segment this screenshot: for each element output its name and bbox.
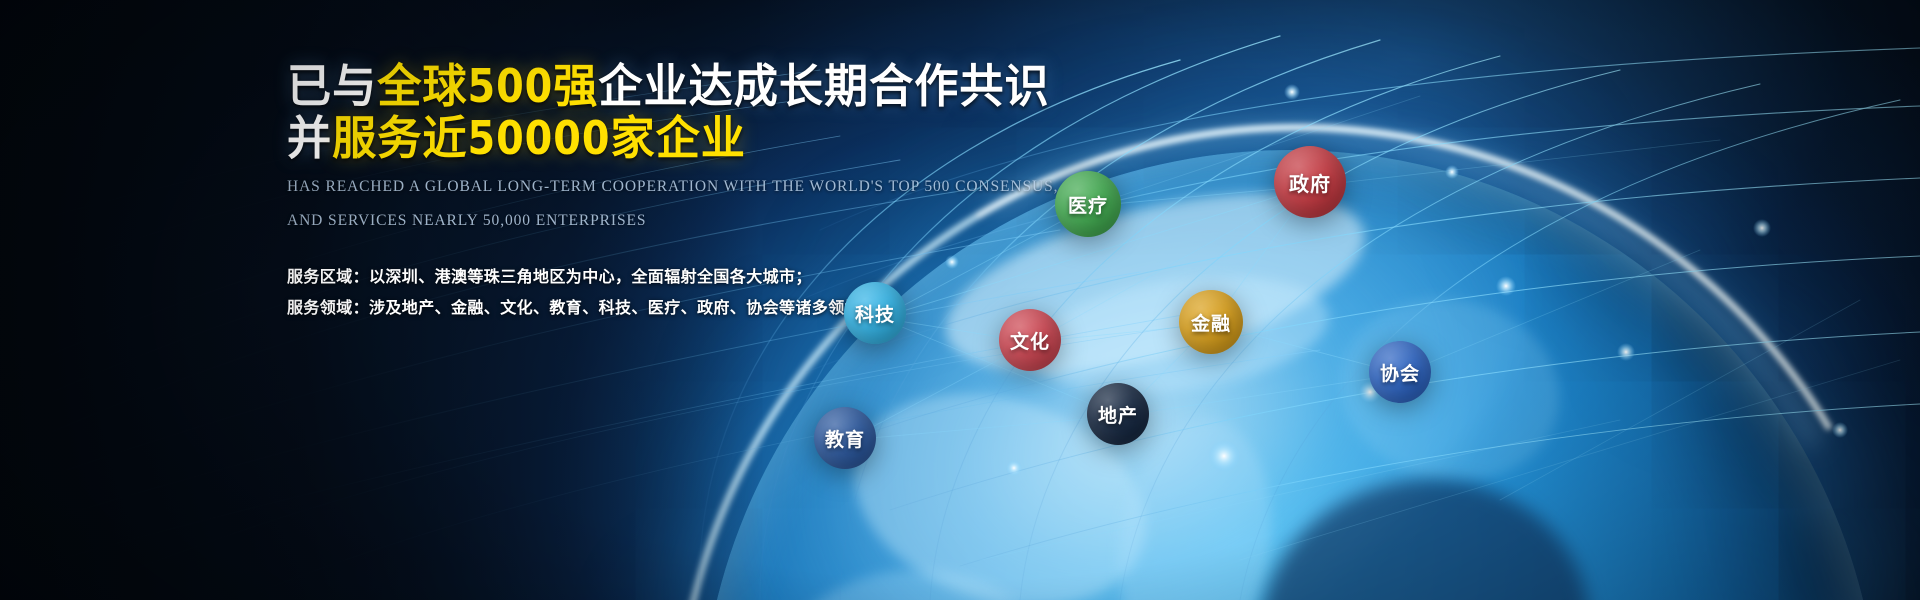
bubble-education[interactable]: 教育 — [814, 407, 876, 469]
bubble-technology[interactable]: 科技 — [844, 282, 906, 344]
bubble-healthcare[interactable]: 医疗 — [1055, 171, 1121, 237]
bubble-label: 医疗 — [1068, 191, 1108, 218]
subtitle-english-line-2: AND SERVICES NEARLY 50,000 ENTERPRISES — [287, 211, 1047, 231]
bubble-label: 政府 — [1289, 168, 1331, 197]
subtitle-english-line-1: HAS REACHED A GLOBAL LONG-TERM COOPERATI… — [287, 177, 1047, 197]
bubble-government[interactable]: 政府 — [1274, 146, 1346, 218]
bubble-label: 科技 — [855, 300, 895, 327]
service-area-text: 服务区域：以深圳、港澳等珠三角地区为中心，全面辐射全国各大城市； — [287, 261, 1047, 292]
headline-line-1: 已与全球500强企业达成长期合作共识 — [287, 61, 1017, 111]
headline-1-part-1: 已与 — [287, 59, 377, 113]
bubble-label: 教育 — [825, 425, 865, 452]
bubble-label: 文化 — [1010, 327, 1050, 354]
service-field-text: 服务领域：涉及地产、金融、文化、教育、科技、医疗、政府、协会等诸多领域。 — [287, 292, 1047, 323]
bubble-label: 金融 — [1191, 309, 1231, 336]
bubble-label: 协会 — [1380, 359, 1420, 386]
copy-block: 已与全球500强企业达成长期合作共识 并服务近50000家企业 HAS REAC… — [287, 55, 1047, 323]
bubble-culture[interactable]: 文化 — [999, 309, 1061, 371]
headline-2-highlight: 服务近50000家企业 — [332, 111, 746, 165]
banner-stage: 已与全球500强企业达成长期合作共识 并服务近50000家企业 HAS REAC… — [0, 0, 1920, 600]
bubble-finance[interactable]: 金融 — [1179, 290, 1243, 354]
bubble-association[interactable]: 协会 — [1369, 341, 1431, 403]
headline-1-highlight: 全球500强 — [377, 59, 598, 113]
headline-2-part-1: 并 — [287, 111, 332, 165]
bubble-real-estate[interactable]: 地产 — [1087, 383, 1149, 445]
headline-1-part-3: 企业达成长期合作共识 — [598, 59, 1049, 113]
bubble-label: 地产 — [1098, 401, 1138, 428]
headline-line-2: 并服务近50000家企业 — [287, 113, 1017, 163]
